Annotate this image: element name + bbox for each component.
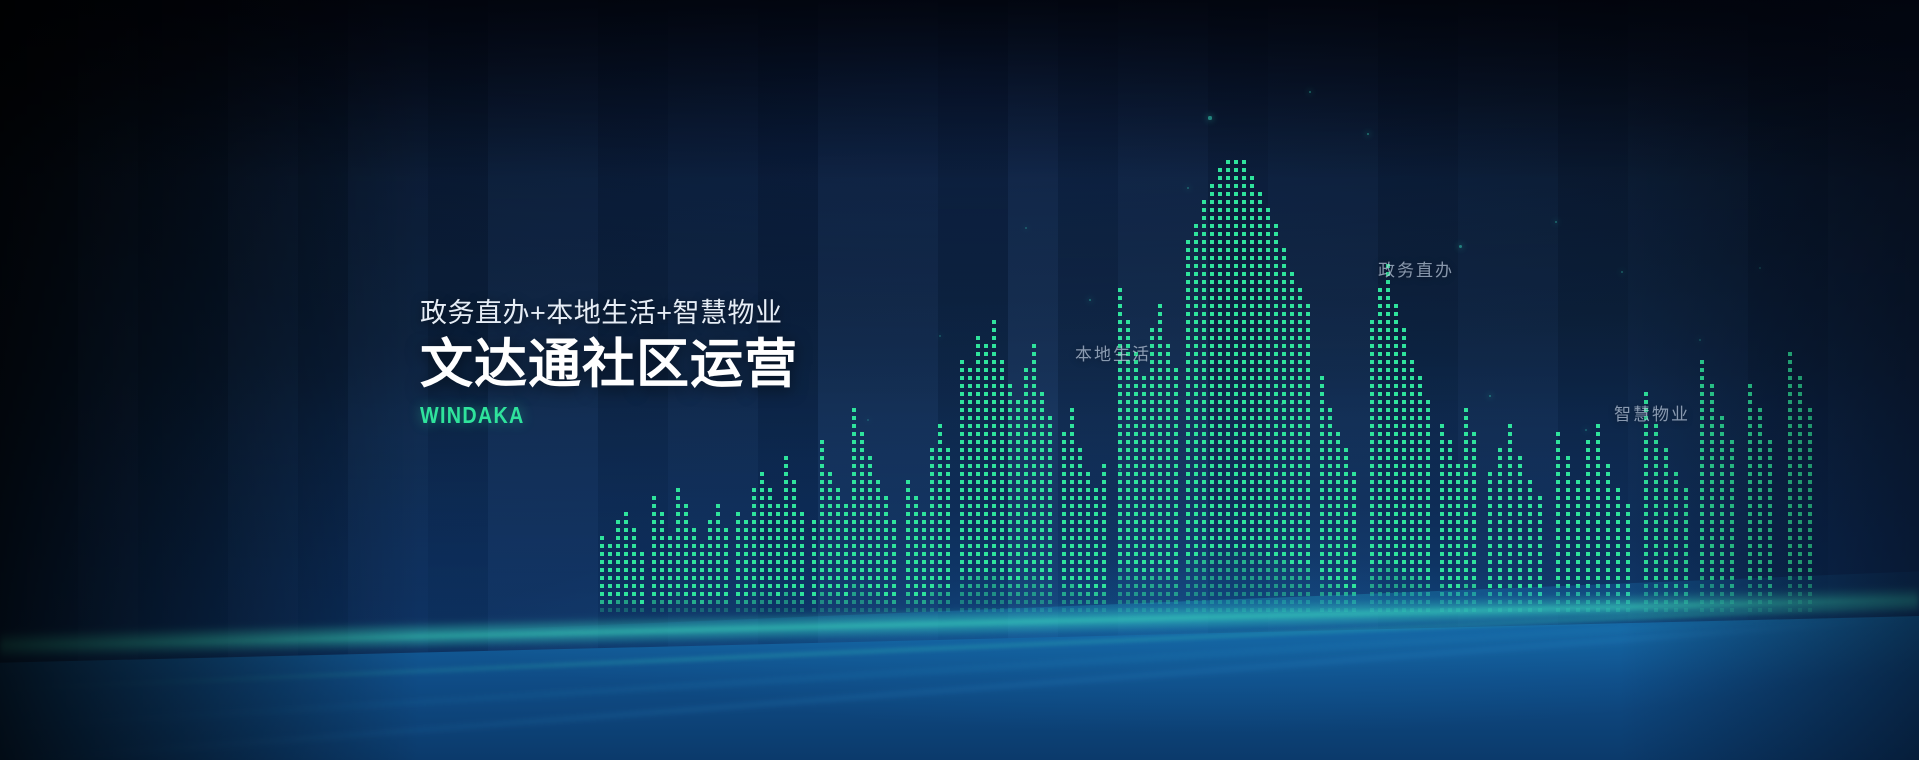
building-dot (684, 504, 688, 508)
building-dot (1386, 424, 1390, 428)
building-dot (1150, 480, 1154, 484)
building-dot (1150, 568, 1154, 572)
building-dot (1040, 528, 1044, 532)
building-dot (1508, 448, 1512, 452)
building-dot (828, 552, 832, 556)
building-column (1730, 434, 1734, 612)
building-dot (1518, 472, 1522, 476)
building-dot (1370, 424, 1374, 428)
building-dot (868, 560, 872, 564)
building-dot (1266, 424, 1270, 428)
building-dot (984, 376, 988, 380)
building-dot (1700, 512, 1704, 516)
building-dot (1386, 552, 1390, 556)
building-dot (1674, 584, 1678, 588)
building-dot (1758, 568, 1762, 572)
building-dot (1710, 456, 1714, 460)
building-dot (1040, 608, 1044, 612)
building-dot (1378, 456, 1382, 460)
building-dot (906, 504, 910, 508)
building-dot (1194, 320, 1198, 324)
building-dot (1226, 472, 1230, 476)
building-dot (1274, 472, 1278, 476)
building-dot (692, 584, 696, 588)
building-dot (1798, 528, 1802, 532)
building-dot (1186, 480, 1190, 484)
building-dot (1250, 352, 1254, 356)
building-dot (744, 600, 748, 604)
building-dot (1266, 352, 1270, 356)
building-dot (616, 536, 620, 540)
building-dot (608, 552, 612, 556)
building-dot (1644, 464, 1648, 468)
building-dot (1070, 440, 1074, 444)
building-dot (984, 368, 988, 372)
building-dot (800, 608, 804, 612)
building-dot (1566, 560, 1570, 564)
building-dot (1234, 464, 1238, 468)
building-dot (1150, 400, 1154, 404)
building-dot (1008, 424, 1012, 428)
building-dot (1250, 520, 1254, 524)
building-dot (1748, 488, 1752, 492)
building-dot (1748, 520, 1752, 524)
building-dot (1166, 384, 1170, 388)
building-dot (716, 504, 720, 508)
building-dot (1448, 472, 1452, 476)
building-dot (1328, 504, 1332, 508)
building-dot (1234, 408, 1238, 412)
building-dot (1758, 600, 1762, 604)
building-dot (1798, 392, 1802, 396)
building-dot (1472, 608, 1476, 612)
building-dot (1218, 328, 1222, 332)
building-dot (1242, 416, 1246, 420)
building-dot (1242, 176, 1246, 180)
building-dot (1684, 512, 1688, 516)
building-dot (1250, 256, 1254, 260)
building-dot (1174, 544, 1178, 548)
building-dot (1062, 480, 1066, 484)
building-dot (1186, 552, 1190, 556)
building-dot (652, 520, 656, 524)
building-dot (820, 600, 824, 604)
building-dot (906, 600, 910, 604)
building-dot (1298, 288, 1302, 292)
building-dot (1464, 464, 1468, 468)
building-dot (1118, 608, 1122, 612)
building-dot (1378, 296, 1382, 300)
building-column (876, 470, 880, 612)
building-dot (1202, 296, 1206, 300)
building-dot (1654, 544, 1658, 548)
building-dot (776, 528, 780, 532)
building-column (1202, 192, 1206, 612)
building-dot (1720, 416, 1724, 420)
building-dot (1094, 608, 1098, 612)
building-dot (1024, 512, 1028, 516)
building-dot (1684, 528, 1688, 532)
building-dot (1078, 544, 1082, 548)
building-column (724, 518, 728, 612)
building-dot (1320, 496, 1324, 500)
building-dot (1210, 448, 1214, 452)
building-dot (1586, 576, 1590, 580)
building-dot (1596, 512, 1600, 516)
building-dot (1410, 560, 1414, 564)
building-dot (1070, 472, 1074, 476)
building-dot (1508, 584, 1512, 588)
building-dot (616, 584, 620, 588)
building-dot (1040, 552, 1044, 556)
building-dot (1748, 440, 1752, 444)
building-dot (876, 536, 880, 540)
building-dot (946, 496, 950, 500)
building-dot (968, 448, 972, 452)
building-dot (1528, 552, 1532, 556)
building-dot (1378, 536, 1382, 540)
building-dot (1730, 584, 1734, 588)
building-dot (1218, 208, 1222, 212)
building-dot (1048, 584, 1052, 588)
building-dot (652, 504, 656, 508)
building-dot (1298, 528, 1302, 532)
building-dot (1202, 536, 1206, 540)
building-dot (1402, 328, 1406, 332)
building-dot (960, 504, 964, 508)
building-dot (760, 568, 764, 572)
building-column (1258, 182, 1262, 612)
building-dot (1266, 608, 1270, 612)
building-dot (1472, 576, 1476, 580)
building-dot (1616, 584, 1620, 588)
building-dot (1386, 448, 1390, 452)
building-dot (1426, 504, 1430, 508)
building-dot (1448, 600, 1452, 604)
building-dot (1336, 440, 1340, 444)
building-dot (1306, 312, 1310, 316)
building-dot (1194, 240, 1198, 244)
building-dot (652, 592, 656, 596)
building-column (1282, 240, 1286, 612)
building-dot (1336, 592, 1340, 596)
building-dot (1226, 224, 1230, 228)
building-dot (668, 592, 672, 596)
building-dot (1328, 448, 1332, 452)
building-dot (1166, 544, 1170, 548)
building-dot (1274, 600, 1278, 604)
building-dot (1094, 512, 1098, 516)
building-dot (1126, 376, 1130, 380)
building-dot (1218, 584, 1222, 588)
building-dot (1768, 608, 1772, 612)
building-dot (1000, 384, 1004, 388)
building-dot (716, 608, 720, 612)
building-dot (1062, 544, 1066, 548)
building-dot (1094, 496, 1098, 500)
building-dot (1166, 344, 1170, 348)
building-dot (1402, 344, 1406, 348)
building-dot (1274, 352, 1278, 356)
building-dot (1586, 448, 1590, 452)
building-dot (608, 568, 612, 572)
building-dot (1472, 592, 1476, 596)
building-dot (844, 592, 848, 596)
building-dot (1626, 528, 1630, 532)
building-dot (1218, 344, 1222, 348)
building-dot (1664, 568, 1668, 572)
building-dot (1508, 552, 1512, 556)
building-dot (1378, 544, 1382, 548)
building-dot (784, 592, 788, 596)
building-dot (1234, 528, 1238, 532)
building-dot (1320, 552, 1324, 556)
building-dot (640, 560, 644, 564)
building-dot (1186, 600, 1190, 604)
building-dot (1016, 568, 1020, 572)
building-dot (632, 528, 636, 532)
building-dot (1250, 248, 1254, 252)
building-dot (1306, 536, 1310, 540)
building-dot (1142, 464, 1146, 468)
building-dot (946, 512, 950, 516)
building-dot (1440, 456, 1444, 460)
building-dot (1370, 592, 1374, 596)
building-dot (1508, 496, 1512, 500)
building-dot (1402, 352, 1406, 356)
building-dot (724, 600, 728, 604)
building-dot (1576, 496, 1580, 500)
building-dot (1758, 448, 1762, 452)
building-dot (1684, 560, 1688, 564)
building-dot (876, 544, 880, 548)
building-dot (1556, 480, 1560, 484)
building-dot (1008, 448, 1012, 452)
building-dot (1748, 384, 1752, 388)
building-dot (1788, 384, 1792, 388)
building-dot (984, 552, 988, 556)
building-dot (1418, 384, 1422, 388)
building-dot (1078, 560, 1082, 564)
building-dot (1386, 504, 1390, 508)
building-dot (1556, 560, 1560, 564)
building-dot (1440, 568, 1444, 572)
building-dot (1202, 376, 1206, 380)
building-dot (1062, 432, 1066, 436)
building-dot (1464, 536, 1468, 540)
building-dot (1134, 456, 1138, 460)
building-column (892, 514, 896, 612)
building-dot (1606, 608, 1610, 612)
building-dot (1032, 544, 1036, 548)
building-dot (1508, 592, 1512, 596)
building-dot (1242, 168, 1246, 172)
building-dot (1210, 256, 1214, 260)
building-dot (1730, 608, 1734, 612)
building-dot (1194, 576, 1198, 580)
building-dot (1258, 512, 1262, 516)
building-dot (968, 480, 972, 484)
building-dot (1298, 560, 1302, 564)
building-dot (1016, 448, 1020, 452)
building-dot (1402, 504, 1406, 508)
building-dot (1290, 520, 1294, 524)
building-dot (984, 536, 988, 540)
building-dot (1700, 392, 1704, 396)
building-dot (1078, 592, 1082, 596)
building-dot (1788, 512, 1792, 516)
building-dot (716, 536, 720, 540)
building-dot (1664, 512, 1668, 516)
building-dot (800, 536, 804, 540)
building-dot (1730, 560, 1734, 564)
building-dot (1464, 408, 1468, 412)
building-dot (1808, 520, 1812, 524)
building-dot (1242, 344, 1246, 348)
building-dot (1566, 456, 1570, 460)
building-dot (1134, 472, 1138, 476)
building-dot (1710, 528, 1714, 532)
building-dot (1788, 576, 1792, 580)
building-dot (1720, 464, 1724, 468)
building-dot (760, 488, 764, 492)
building-dot (1174, 512, 1178, 516)
building-dot (1202, 200, 1206, 204)
building-dot (922, 512, 926, 516)
building-dot (784, 496, 788, 500)
building-dot (1282, 288, 1286, 292)
building-dot (1086, 520, 1090, 524)
building-dot (1040, 576, 1044, 580)
building-dot (906, 608, 910, 612)
building-dot (1186, 280, 1190, 284)
building-dot (1320, 432, 1324, 436)
building-dot (1234, 264, 1238, 268)
building-dot (1000, 488, 1004, 492)
building-dot (1664, 536, 1668, 540)
building-dot (1700, 360, 1704, 364)
building-dot (938, 600, 942, 604)
building-dot (800, 584, 804, 588)
building-dot (1166, 432, 1170, 436)
building-dot (1032, 552, 1036, 556)
building-dot (744, 584, 748, 588)
building-dot (1394, 488, 1398, 492)
building-dot (960, 488, 964, 492)
building-dot (1394, 336, 1398, 340)
building-dot (716, 520, 720, 524)
building-dot (1320, 560, 1324, 564)
building-dot (1700, 368, 1704, 372)
building-dot (1266, 584, 1270, 588)
building-dot (1748, 592, 1752, 596)
building-dot (1210, 200, 1214, 204)
building-dot (1078, 528, 1082, 532)
building-dot (1378, 344, 1382, 348)
building-dot (1488, 584, 1492, 588)
building-dot (1186, 448, 1190, 452)
building-dot (724, 560, 728, 564)
building-dot (1290, 424, 1294, 428)
building-column (744, 516, 748, 612)
building-dot (1616, 496, 1620, 500)
building-dot (906, 592, 910, 596)
building-dot (1508, 440, 1512, 444)
building-dot (1386, 480, 1390, 484)
building-dot (1508, 528, 1512, 532)
building-dot (792, 608, 796, 612)
building-dot (1000, 408, 1004, 412)
building-dot (1440, 584, 1444, 588)
building-dot (1418, 600, 1422, 604)
building-dot (668, 544, 672, 548)
building-dot (1242, 472, 1246, 476)
building-dot (1186, 296, 1190, 300)
building-dot (1194, 472, 1198, 476)
building-dot (1394, 512, 1398, 516)
building-dot (992, 520, 996, 524)
building-dot (1126, 600, 1130, 604)
building-dot (1344, 448, 1348, 452)
building-dot (1166, 400, 1170, 404)
building-dot (1210, 552, 1214, 556)
building-dot (1040, 448, 1044, 452)
building-dot (624, 528, 628, 532)
building-dot (1386, 488, 1390, 492)
building-dot (1336, 536, 1340, 540)
building-dot (1528, 496, 1532, 500)
building-dot (1402, 376, 1406, 380)
building-dot (1048, 448, 1052, 452)
building-dot (1016, 600, 1020, 604)
building-dot (1250, 576, 1254, 580)
building-dot (984, 512, 988, 516)
building-dot (1386, 608, 1390, 612)
building-dot (992, 424, 996, 428)
building-dot (1234, 576, 1238, 580)
building-dot (1328, 464, 1332, 468)
building-dot (1032, 536, 1036, 540)
building-dot (1418, 520, 1422, 524)
building-dot (1040, 400, 1044, 404)
building-dot (1606, 584, 1610, 588)
building-dot (1298, 432, 1302, 436)
building-dot (1016, 480, 1020, 484)
building-dot (1258, 480, 1262, 484)
building-dot (1202, 544, 1206, 548)
building-dot (1000, 416, 1004, 420)
building-dot (1386, 400, 1390, 404)
building-dot (1242, 544, 1246, 548)
building-dot (1142, 512, 1146, 516)
building-dot (828, 528, 832, 532)
building-dot (1210, 344, 1214, 348)
building-dot (852, 488, 856, 492)
building-dot (1644, 544, 1648, 548)
building-dot (914, 504, 918, 508)
building-dot (1426, 464, 1430, 468)
building-dot (1062, 456, 1066, 460)
building-dot (1498, 488, 1502, 492)
building-dot (1142, 504, 1146, 508)
building-dot (876, 592, 880, 596)
building-dot (1370, 584, 1374, 588)
building-dot (914, 560, 918, 564)
building-dot (1538, 520, 1542, 524)
building-dot (860, 496, 864, 500)
building-dot (1344, 464, 1348, 468)
building-dot (1126, 576, 1130, 580)
